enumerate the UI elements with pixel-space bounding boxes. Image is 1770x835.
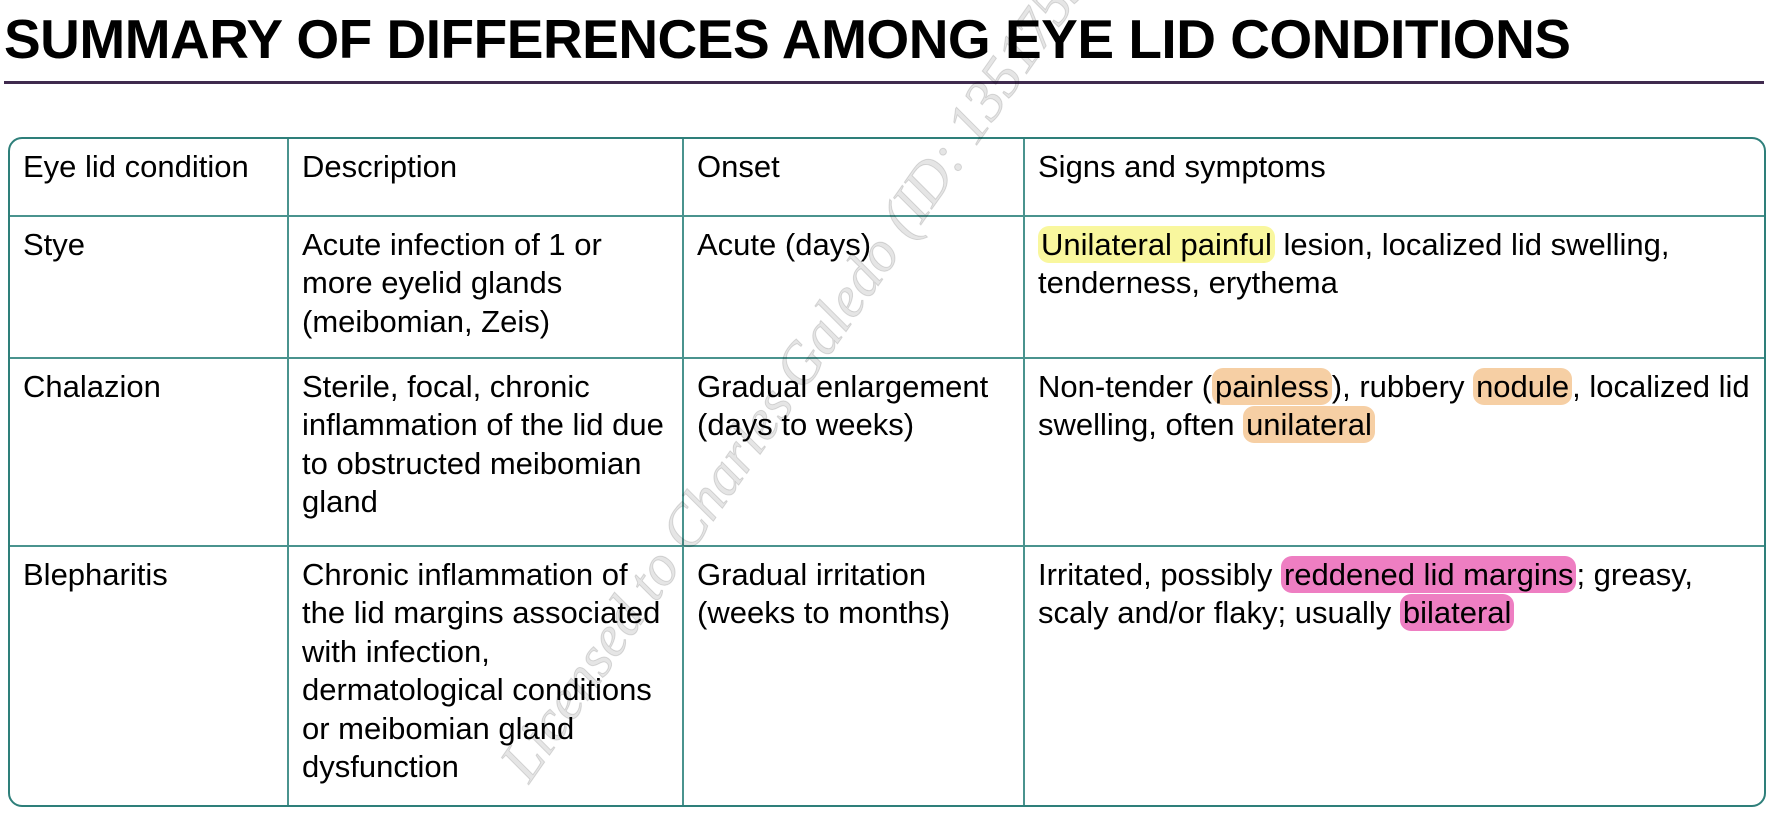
highlight-pink: reddened lid margins (1281, 556, 1577, 593)
cell-condition: Blepharitis (10, 547, 289, 805)
table-row: Blepharitis Chronic inflammation of the … (10, 547, 1764, 805)
cell-onset: Acute (days) (684, 217, 1025, 359)
cell-description: Acute infection of 1 or more eyelid glan… (289, 217, 684, 359)
cell-onset: Gradual enlargement (days to weeks) (684, 359, 1025, 547)
highlight-orange: painless (1212, 368, 1332, 405)
cell-signs: Non-tender (painless), rubbery nodule, l… (1025, 359, 1764, 547)
highlight-orange: unilateral (1243, 406, 1375, 443)
table-header-row: Eye lid condition Description Onset Sign… (10, 139, 1764, 217)
comparison-table-container: Eye lid condition Description Onset Sign… (8, 137, 1762, 807)
cell-description: Sterile, focal, chronic inflammation of … (289, 359, 684, 547)
table-row: Stye Acute infection of 1 or more eyelid… (10, 217, 1764, 359)
eye-lid-conditions-table: Eye lid condition Description Onset Sign… (8, 137, 1766, 807)
cell-description: Chronic inflammation of the lid margins … (289, 547, 684, 805)
page-title: SUMMARY OF DIFFERENCES AMONG EYE LID CON… (0, 0, 1770, 67)
cell-condition: Chalazion (10, 359, 289, 547)
table-body: Stye Acute infection of 1 or more eyelid… (10, 217, 1764, 805)
column-header-signs: Signs and symptoms (1025, 139, 1764, 217)
column-header-onset: Onset (684, 139, 1025, 217)
cell-signs: Unilateral painful lesion, localized lid… (1025, 217, 1764, 359)
cell-signs: Irritated, possibly reddened lid margins… (1025, 547, 1764, 805)
highlight-yellow: Unilateral painful (1038, 226, 1275, 263)
column-header-condition: Eye lid condition (10, 139, 289, 217)
cell-onset: Gradual irritation (weeks to months) (684, 547, 1025, 805)
title-divider (4, 81, 1764, 84)
cell-condition: Stye (10, 217, 289, 359)
table-row: Chalazion Sterile, focal, chronic inflam… (10, 359, 1764, 547)
highlight-orange: nodule (1473, 368, 1572, 405)
highlight-pink: bilateral (1400, 594, 1515, 631)
column-header-description: Description (289, 139, 684, 217)
